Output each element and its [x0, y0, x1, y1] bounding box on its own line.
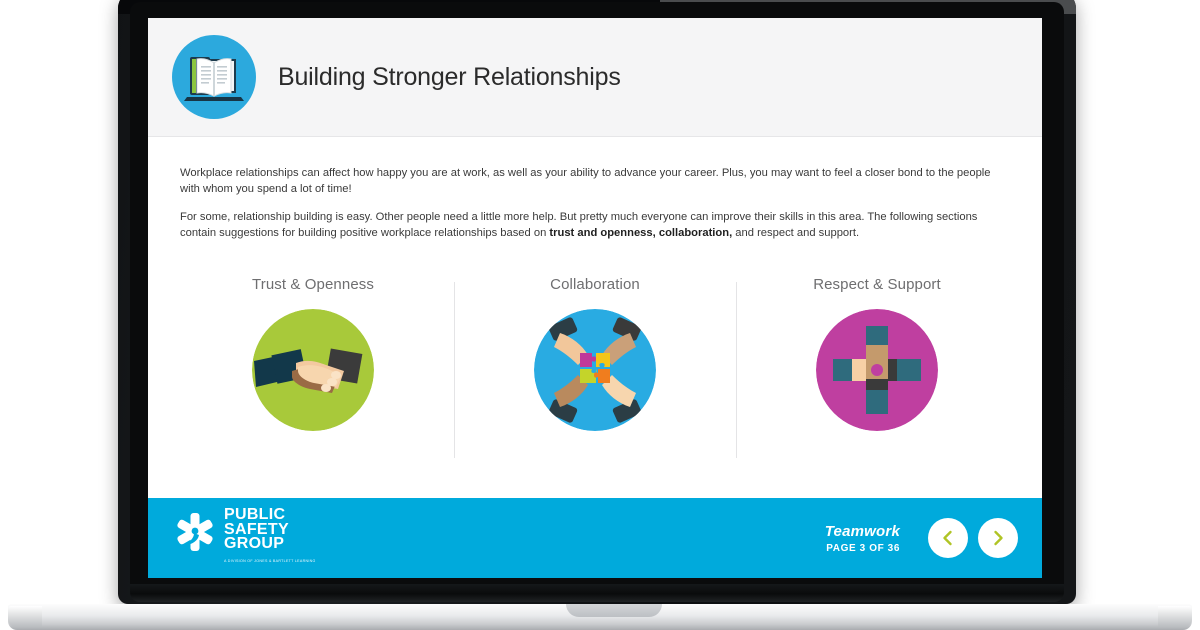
section-trust-openness[interactable]: Trust & Openness [172, 276, 454, 476]
page-title: Building Stronger Relationships [278, 63, 621, 92]
laptop-base-right-edge [1158, 606, 1192, 627]
chevron-left-icon [938, 528, 958, 548]
section-title: Trust & Openness [252, 276, 374, 293]
interlocking-arms-icon [816, 309, 938, 431]
presentation-slide: Building Stronger Relationships Workplac… [148, 18, 1042, 578]
footer-navigation: Teamwork PAGE 3 OF 36 [825, 518, 1018, 558]
section-collaboration[interactable]: Collaboration [454, 276, 736, 476]
section-title: Respect & Support [813, 276, 941, 293]
slide-body: Workplace relationships can affect how h… [148, 136, 1042, 498]
previous-page-button[interactable] [928, 518, 968, 558]
laptop-screen: Building Stronger Relationships Workplac… [148, 18, 1042, 578]
intro-paragraph-1: Workplace relationships can affect how h… [180, 166, 1008, 197]
laptop-hinge [130, 584, 1064, 602]
footer-meta: Teamwork PAGE 3 OF 36 [825, 523, 900, 554]
logo-line-group: GROUP [224, 537, 316, 552]
publisher-wordmark: PUBLIC SAFETY GROUP A DIVISION OF JONES … [224, 508, 316, 568]
module-label: Teamwork [825, 523, 900, 540]
page-indicator: PAGE 3 OF 36 [825, 543, 900, 554]
laptop-mockup: Building Stronger Relationships Workplac… [0, 0, 1200, 630]
paragraph-2-bold-trust: trust and openness, [549, 227, 655, 239]
hands-puzzle-icon [534, 309, 656, 431]
chevron-right-icon [988, 528, 1008, 548]
open-book-laptop-icon [172, 35, 256, 119]
section-respect-support[interactable]: Respect & Support [736, 276, 1018, 476]
section-columns: Trust & Openness [172, 276, 1018, 476]
handshake-icon [252, 309, 374, 431]
publisher-logo: PUBLIC SAFETY GROUP A DIVISION OF JONES … [174, 508, 316, 568]
star-of-life-icon [174, 511, 216, 553]
next-page-button[interactable] [978, 518, 1018, 558]
section-title: Collaboration [550, 276, 640, 293]
logo-tagline: A DIVISION OF JONES & BARTLETT LEARNING [224, 554, 316, 569]
slide-footer: PUBLIC SAFETY GROUP A DIVISION OF JONES … [148, 498, 1042, 578]
paragraph-2-tail: and respect and support. [732, 227, 859, 239]
laptop-base-left-edge [8, 606, 42, 627]
paragraph-2-bold-collaboration: collaboration, [659, 227, 732, 239]
laptop-base-notch [566, 604, 662, 617]
slide-header: Building Stronger Relationships [148, 18, 1042, 137]
intro-paragraph-2: For some, relationship building is easy.… [180, 210, 1008, 241]
